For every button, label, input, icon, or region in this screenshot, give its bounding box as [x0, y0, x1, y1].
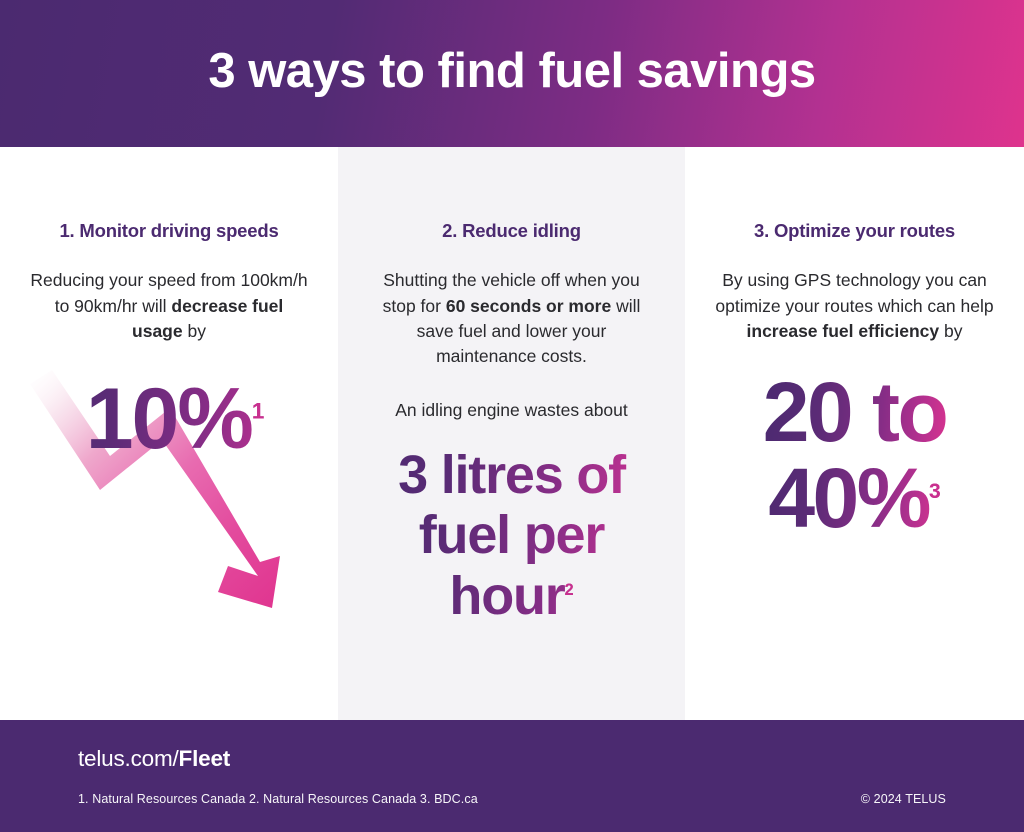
column-3-body: By using GPS technology you can optimize…: [707, 268, 1002, 344]
column-3-body-bold: increase fuel efficiency: [747, 321, 940, 341]
column-1-title: 1. Monitor driving speeds: [22, 219, 316, 242]
column-3-stat-line1: 20 to: [763, 365, 947, 459]
column-1-footnote-marker: 1: [252, 399, 264, 424]
column-3-footnote-marker: 3: [929, 480, 941, 503]
footer-source-notes: 1. Natural Resources Canada 2. Natural R…: [78, 792, 478, 806]
column-1-stat-graphic: 10%1: [22, 372, 316, 632]
column-3-stat-line2: 40%: [768, 451, 929, 545]
column-2-body-bold: 60 seconds or more: [446, 296, 611, 316]
column-1-body: Reducing your speed from 100km/h to 90km…: [22, 268, 316, 344]
header-banner: 3 ways to find fuel savings: [0, 0, 1024, 147]
column-reduce-idling: 2. Reduce idling Shutting the vehicle of…: [338, 147, 685, 720]
column-1-body-post: by: [183, 321, 206, 341]
footer-banner: telus.com/Fleet 1. Natural Resources Can…: [0, 720, 1024, 832]
footer-url-prefix: telus.com/: [78, 746, 179, 771]
footer-bottom-row: 1. Natural Resources Canada 2. Natural R…: [78, 792, 962, 806]
page-title: 3 ways to find fuel savings: [208, 46, 815, 101]
footer-url-bold: Fleet: [179, 746, 231, 771]
column-monitor-driving-speeds: 1. Monitor driving speeds Reducing your …: [0, 147, 338, 720]
footer-url[interactable]: telus.com/Fleet: [78, 746, 962, 772]
column-2-stat-value: 3 litres of fuel per hour: [398, 445, 625, 626]
column-3-stat: 20 to40%3: [763, 370, 947, 541]
column-optimize-routes: 3. Optimize your routes By using GPS tec…: [685, 147, 1024, 720]
column-3-title: 3. Optimize your routes: [707, 219, 1002, 242]
column-2-stat: 3 litres of fuel per hour2: [360, 445, 663, 626]
column-2-body: Shutting the vehicle off when you stop f…: [360, 268, 663, 370]
column-2-title: 2. Reduce idling: [360, 219, 663, 242]
column-1-stat-value: 10%: [86, 371, 252, 467]
column-1-stat: 10%1: [22, 378, 316, 461]
footer-copyright: © 2024 TELUS: [861, 792, 962, 806]
column-3-body-pre: By using GPS technology you can optimize…: [715, 270, 993, 315]
column-2-body-secondary: An idling engine wastes about: [360, 398, 663, 423]
columns-container: 1. Monitor driving speeds Reducing your …: [0, 147, 1024, 720]
column-3-body-post: by: [939, 321, 962, 341]
column-2-footnote-marker: 2: [565, 581, 574, 599]
infographic-root: 3 ways to find fuel savings 1. Monitor d…: [0, 0, 1024, 832]
